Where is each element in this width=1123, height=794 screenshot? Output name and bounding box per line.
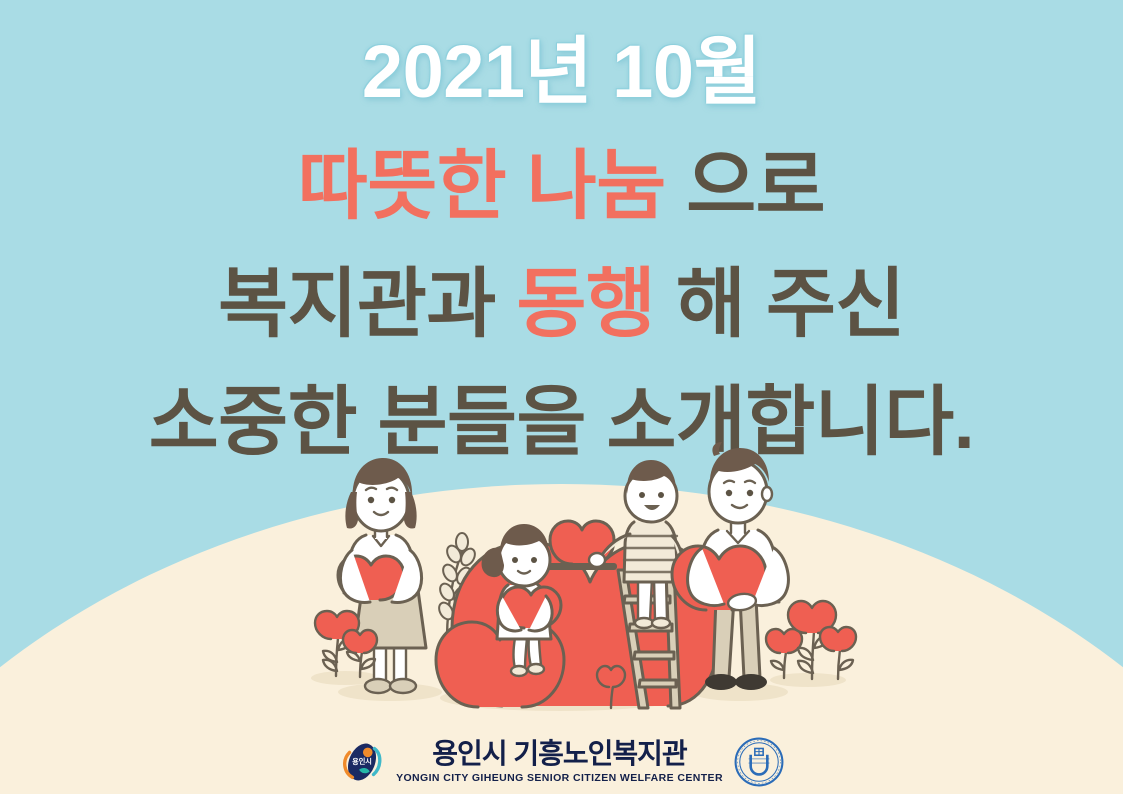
- heart-flower: [766, 629, 802, 678]
- headline-line-2: 따뜻한 나눔 으로: [0, 128, 1123, 246]
- headline-highlight-nanum: 따뜻한 나눔: [298, 144, 666, 229]
- organization-name-block: 용인시 기흥노인복지관 YONGIN CITY GIHEUNG SENIOR C…: [396, 740, 723, 784]
- headline-line-1: 2021년 10월: [0, 0, 1123, 128]
- heart-flower: [343, 630, 377, 677]
- headline-line-3-pre: 복지관과: [218, 262, 516, 347]
- headline-block: 2021년 10월 따뜻한 나눔 으로 복지관과 동행 해 주신 소중한 분들을…: [0, 0, 1123, 482]
- organization-name-ko: 용인시 기흥노인복지관: [432, 740, 686, 768]
- organization-name-en: YONGIN CITY GIHEUNG SENIOR CITIZEN WELFA…: [396, 773, 723, 784]
- headline-line-2-rest: 으로: [666, 144, 825, 229]
- yongin-city-emblem-icon: 용인시: [338, 738, 386, 786]
- heart-flower: [820, 627, 856, 679]
- illustration-scene: .o{fill:none;stroke:#6b6152;stroke-width…: [0, 430, 1123, 730]
- headline-line-3: 복지관과 동행 해 주신: [0, 246, 1123, 364]
- illustration-svg: .o{fill:none;stroke:#6b6152;stroke-width…: [0, 430, 1123, 730]
- headline-highlight-donghaeng: 동행: [516, 262, 655, 347]
- heart-flowers-right: [766, 601, 856, 679]
- heart-shelf: [547, 563, 617, 570]
- footer-logo-bar: 용인시 용인시 기흥노인복지관 YONGIN CITY GIHEUNG SENI…: [0, 736, 1123, 788]
- shadow-flowers-right: [770, 673, 846, 687]
- city-emblem-label: 용인시: [352, 757, 372, 766]
- poster-canvas: 2021년 10월 따뜻한 나눔 으로 복지관과 동행 해 주신 소중한 분들을…: [0, 0, 1123, 794]
- headline-line-3-post: 해 주신: [655, 262, 905, 347]
- welfare-center-seal-icon: [733, 736, 785, 788]
